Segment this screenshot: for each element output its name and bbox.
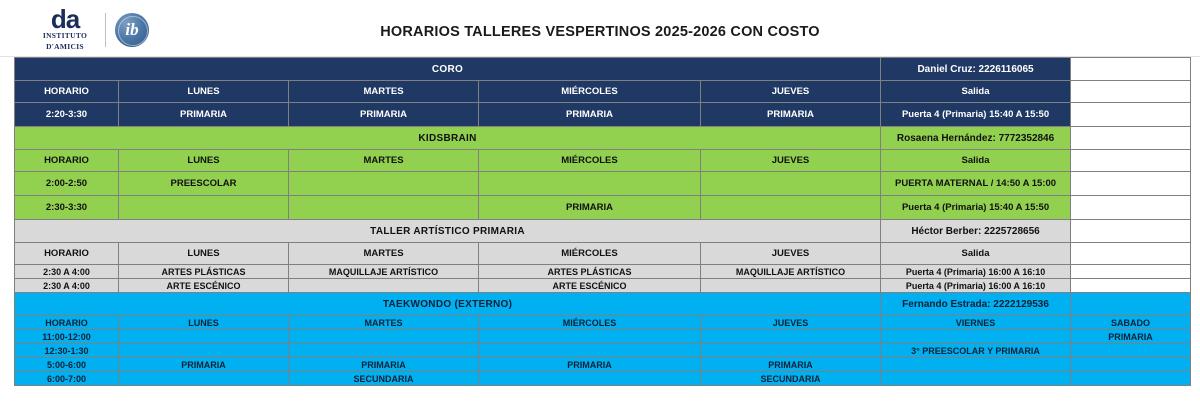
cell-martes (289, 330, 479, 344)
empty-cell (1071, 172, 1191, 196)
header-salida: Salida (881, 243, 1071, 265)
header-martes: MARTES (289, 316, 479, 330)
cell-horario: 2:30-3:30 (15, 196, 119, 220)
header-viernes: VIERNES (881, 316, 1071, 330)
cell-miercoles (479, 172, 701, 196)
cell-martes (289, 344, 479, 358)
section-name-taekwondo: TAEKWONDO (EXTERNO) (15, 293, 881, 316)
cell-horario: 2:00-2:50 (15, 172, 119, 196)
cell-miercoles: PRIMARIA (479, 103, 701, 127)
cell-miercoles: PRIMARIA (479, 358, 701, 372)
column-header-row-kidsbrain: HORARIO LUNES MARTES MIÉRCOLES JUEVES Sa… (15, 150, 1191, 172)
header-lunes: LUNES (119, 316, 289, 330)
cell-lunes: PRIMARIA (119, 358, 289, 372)
cell-miercoles (479, 330, 701, 344)
cell-horario: 6:00-7:00 (15, 372, 119, 386)
cell-sabado (1071, 358, 1191, 372)
header-miercoles: MIÉRCOLES (479, 81, 701, 103)
header-jueves: JUEVES (701, 316, 881, 330)
ib-logo-label: ib (125, 21, 138, 38)
damicis-logo: da INSTITUTO D'AMICIS (34, 8, 96, 51)
cell-miercoles: ARTE ESCÉNICO (479, 279, 701, 293)
cell-lunes (119, 344, 289, 358)
spreadsheet-canvas: da INSTITUTO D'AMICIS ib HORARIOS TALLER… (0, 0, 1200, 419)
empty-cell (1071, 58, 1191, 81)
cell-martes: MAQUILLAJE ARTÍSTICO (289, 265, 479, 279)
cell-miercoles: ARTES PLÁSTICAS (479, 265, 701, 279)
empty-cell (1071, 127, 1191, 150)
cell-jueves (701, 279, 881, 293)
header-jueves: JUEVES (701, 243, 881, 265)
cell-jueves: MAQUILLAJE ARTÍSTICO (701, 265, 881, 279)
cell-miercoles (479, 372, 701, 386)
section-title-row-kidsbrain: KIDSBRAIN Rosaena Hernández: 7772352846 (15, 127, 1191, 150)
empty-cell (1071, 150, 1191, 172)
table-row: 2:30 A 4:00 ARTE ESCÉNICO ARTE ESCÉNICO … (15, 279, 1191, 293)
cell-jueves (701, 344, 881, 358)
section-name-kidsbrain: KIDSBRAIN (15, 127, 881, 150)
section-name-coro: CORO (15, 58, 881, 81)
cell-martes: PRIMARIA (289, 103, 479, 127)
cell-lunes: ARTE ESCÉNICO (119, 279, 289, 293)
cell-lunes: PREESCOLAR (119, 172, 289, 196)
empty-cell (1071, 243, 1191, 265)
schedule-table: CORO Daniel Cruz: 2226116065 HORARIO LUN… (14, 57, 1191, 386)
cell-salida: Puerta 4 (Primaria) 16:00 A 16:10 (881, 279, 1071, 293)
header-jueves: JUEVES (701, 81, 881, 103)
cell-salida: Puerta 4 (Primaria) 16:00 A 16:10 (881, 265, 1071, 279)
cell-horario: 2:20-3:30 (15, 103, 119, 127)
empty-cell (1071, 196, 1191, 220)
institution-logo: da INSTITUTO D'AMICIS ib (34, 8, 149, 51)
header-sabado: SABADO (1071, 316, 1191, 330)
schedule-body: CORO Daniel Cruz: 2226116065 HORARIO LUN… (15, 58, 1191, 386)
header-miercoles: MIÉRCOLES (479, 243, 701, 265)
table-row: 5:00-6:00 PRIMARIA PRIMARIA PRIMARIA PRI… (15, 358, 1191, 372)
header-miercoles: MIÉRCOLES (479, 316, 701, 330)
damicis-name-line2: D'AMICIS (34, 43, 96, 52)
section-contact-coro: Daniel Cruz: 2226116065 (881, 58, 1071, 81)
table-row: 2:20-3:30 PRIMARIA PRIMARIA PRIMARIA PRI… (15, 103, 1191, 127)
cell-viernes (881, 330, 1071, 344)
cell-jueves (701, 172, 881, 196)
cell-martes (289, 196, 479, 220)
section-name-taller-artistico: TALLER ARTÍSTICO PRIMARIA (15, 220, 881, 243)
cell-salida: Puerta 4 (Primaria) 15:40 A 15:50 (881, 196, 1071, 220)
section-title-row-taekwondo: TAEKWONDO (EXTERNO) Fernando Estrada: 22… (15, 293, 1191, 316)
cell-salida: PUERTA MATERNAL / 14:50 A 15:00 (881, 172, 1071, 196)
table-row: 11:00-12:00 PRIMARIA (15, 330, 1191, 344)
ib-logo-icon: ib (115, 13, 149, 47)
section-contact-kidsbrain: Rosaena Hernández: 7772352846 (881, 127, 1071, 150)
cell-horario: 12:30-1:30 (15, 344, 119, 358)
sheet-header: da INSTITUTO D'AMICIS ib HORARIOS TALLER… (0, 0, 1200, 57)
column-header-row-taekwondo: HORARIO LUNES MARTES MIÉRCOLES JUEVES VI… (15, 316, 1191, 330)
cell-lunes: ARTES PLÁSTICAS (119, 265, 289, 279)
header-lunes: LUNES (119, 150, 289, 172)
header-martes: MARTES (289, 150, 479, 172)
header-lunes: LUNES (119, 81, 289, 103)
header-horario: HORARIO (15, 243, 119, 265)
section-contact-taekwondo: Fernando Estrada: 2222129536 (881, 293, 1071, 316)
cell-viernes: 3° PREESCOLAR Y PRIMARIA (881, 344, 1071, 358)
cell-lunes (119, 196, 289, 220)
cell-lunes (119, 372, 289, 386)
cell-lunes (119, 330, 289, 344)
empty-cell (1071, 293, 1191, 316)
damicis-wordmark: da (34, 8, 96, 30)
cell-jueves: PRIMARIA (701, 358, 881, 372)
cell-jueves (701, 196, 881, 220)
section-title-row-coro: CORO Daniel Cruz: 2226116065 (15, 58, 1191, 81)
cell-jueves (701, 330, 881, 344)
section-title-row-taller-artistico: TALLER ARTÍSTICO PRIMARIA Héctor Berber:… (15, 220, 1191, 243)
cell-martes: PRIMARIA (289, 358, 479, 372)
header-salida: Salida (881, 81, 1071, 103)
cell-sabado: PRIMARIA (1071, 330, 1191, 344)
header-horario: HORARIO (15, 81, 119, 103)
header-horario: HORARIO (15, 316, 119, 330)
cell-martes: SECUNDARIA (289, 372, 479, 386)
logo-divider (105, 13, 106, 47)
cell-jueves: SECUNDARIA (701, 372, 881, 386)
cell-horario: 2:30 A 4:00 (15, 279, 119, 293)
column-header-row-taller-artistico: HORARIO LUNES MARTES MIÉRCOLES JUEVES Sa… (15, 243, 1191, 265)
empty-cell (1071, 81, 1191, 103)
empty-cell (1071, 103, 1191, 127)
cell-sabado (1071, 344, 1191, 358)
table-row: 6:00-7:00 SECUNDARIA SECUNDARIA (15, 372, 1191, 386)
header-horario: HORARIO (15, 150, 119, 172)
cell-lunes: PRIMARIA (119, 103, 289, 127)
header-martes: MARTES (289, 81, 479, 103)
cell-horario: 5:00-6:00 (15, 358, 119, 372)
header-martes: MARTES (289, 243, 479, 265)
cell-viernes (881, 358, 1071, 372)
header-salida: Salida (881, 150, 1071, 172)
cell-jueves: PRIMARIA (701, 103, 881, 127)
cell-horario: 11:00-12:00 (15, 330, 119, 344)
empty-cell (1071, 265, 1191, 279)
cell-miercoles: PRIMARIA (479, 196, 701, 220)
cell-martes (289, 172, 479, 196)
header-jueves: JUEVES (701, 150, 881, 172)
cell-horario: 2:30 A 4:00 (15, 265, 119, 279)
cell-sabado (1071, 372, 1191, 386)
cell-miercoles (479, 344, 701, 358)
column-header-row-coro: HORARIO LUNES MARTES MIÉRCOLES JUEVES Sa… (15, 81, 1191, 103)
page-title: HORARIOS TALLERES VESPERTINOS 2025-2026 … (280, 24, 920, 40)
empty-cell (1071, 220, 1191, 243)
empty-cell (1071, 279, 1191, 293)
cell-martes (289, 279, 479, 293)
section-contact-taller-artistico: Héctor Berber: 2225728656 (881, 220, 1071, 243)
cell-salida: Puerta 4 (Primaria) 15:40 A 15:50 (881, 103, 1071, 127)
table-row: 2:30-3:30 PRIMARIA Puerta 4 (Primaria) 1… (15, 196, 1191, 220)
header-miercoles: MIÉRCOLES (479, 150, 701, 172)
table-row: 12:30-1:30 3° PREESCOLAR Y PRIMARIA (15, 344, 1191, 358)
damicis-name-line1: INSTITUTO (34, 32, 96, 41)
table-row: 2:30 A 4:00 ARTES PLÁSTICAS MAQUILLAJE A… (15, 265, 1191, 279)
table-row: 2:00-2:50 PREESCOLAR PUERTA MATERNAL / 1… (15, 172, 1191, 196)
header-lunes: LUNES (119, 243, 289, 265)
cell-viernes (881, 372, 1071, 386)
